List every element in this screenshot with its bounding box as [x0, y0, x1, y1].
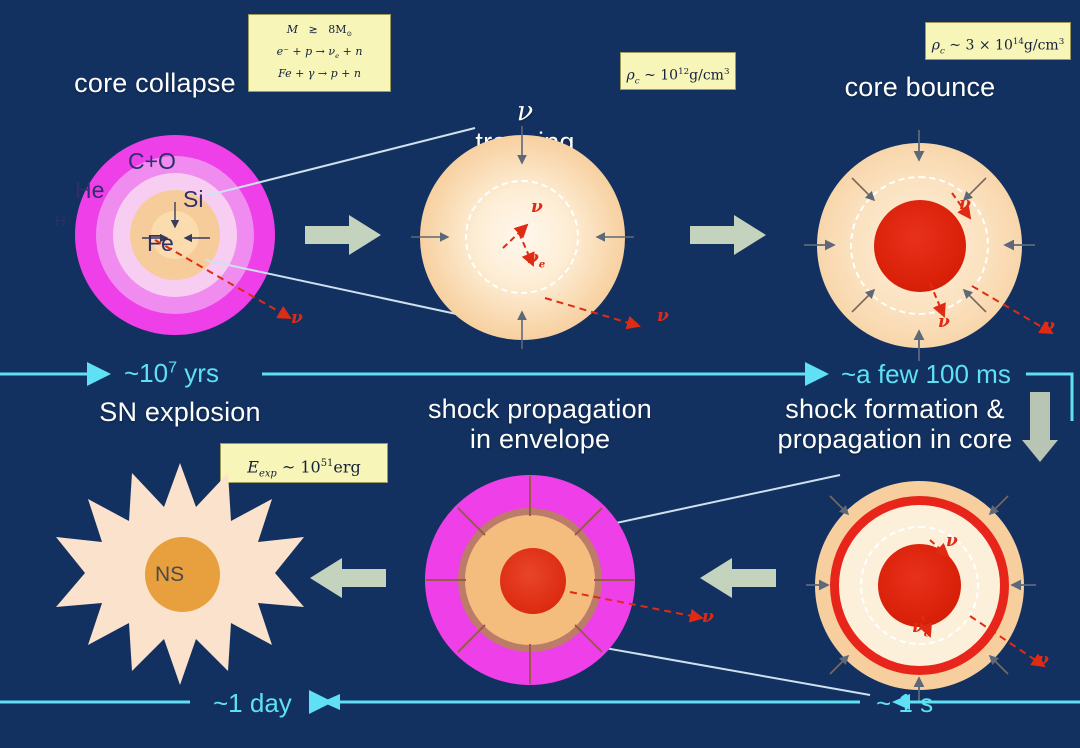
- timeline-label-2: ~a few 100 ms: [841, 359, 1011, 390]
- timeline-label-1: ~107 yrs: [124, 358, 219, 389]
- onion-label-H: H: [55, 213, 66, 230]
- stage-title-core-collapse: core collapse: [30, 68, 280, 98]
- panel-core-bounce: [812, 138, 1027, 353]
- timeline-1-exponent: 7: [168, 358, 177, 376]
- nu-e-symbol-shockform: ν: [912, 617, 924, 637]
- nu-label-trapping-escape: ν: [657, 306, 669, 326]
- nu-label-envelope-escape: ν: [702, 607, 714, 627]
- formula-box-density-bounce: ρc ~ 3 × 1014g/cm3: [925, 22, 1071, 60]
- onion-label-He: He: [75, 177, 104, 204]
- trapped-neutrino-paths: [415, 130, 630, 345]
- flow-arrow-4: [310, 558, 390, 603]
- flow-arrow-1: [305, 215, 385, 260]
- stage-title-core-bounce: core bounce: [805, 72, 1035, 102]
- nu-e-symbol: ν: [527, 248, 539, 268]
- nu-symbol: ν: [517, 96, 534, 127]
- formula-box-density-trapping: ρc ~ 1012g/cm3: [620, 52, 736, 90]
- timeline-label-4: ~1 day: [213, 688, 292, 719]
- nu-label-shockform-escape: ν: [1037, 650, 1049, 670]
- flow-arrow-2: [690, 215, 770, 260]
- nu-label-bounce-2: ν: [938, 312, 950, 332]
- nu-label-trapping-1: ν: [531, 197, 543, 217]
- diagram-canvas: core collapse ν trapping core bounce M ≳…: [0, 0, 1080, 720]
- nu-label-bounce-1: ν: [959, 194, 971, 214]
- flow-arrow-3: [700, 558, 780, 603]
- onion-label-CO: C+O: [128, 148, 176, 175]
- nu-label-shockform-1: ν: [946, 531, 958, 551]
- stage-title-shock-envelope: shock propagation in envelope: [385, 394, 695, 454]
- stage-title-shock-formation: shock formation & propagation in core: [740, 394, 1050, 454]
- formula-reaction-2: Fe + γ → p + n: [249, 65, 390, 82]
- nu-label-shockform-2: νe: [912, 617, 930, 639]
- nu-e-subscript: e: [539, 258, 545, 270]
- nu-label-bounce-escape: ν: [1043, 316, 1055, 336]
- nu-label-trapping-2: νe: [527, 248, 545, 270]
- nu-e-symbol-bounce: ν: [938, 312, 950, 332]
- stage-title-sn-explosion: SN explosion: [55, 397, 305, 427]
- nu-e-subscript-shockform: e: [924, 627, 930, 639]
- panel-shock-envelope: [420, 470, 640, 690]
- formula-reaction-1: e⁻ + p → νe + n: [249, 43, 390, 65]
- ns-label: NS: [155, 563, 184, 587]
- timeline-label-3: ~ 1 s: [876, 688, 933, 719]
- formula-mass-condition: M ≳ 8M⊙: [249, 21, 390, 43]
- formula-box-mass-reactions: M ≳ 8M⊙ e⁻ + p → νe + n Fe + γ → p + n: [248, 14, 391, 92]
- panel-nu-trapping: [415, 130, 630, 345]
